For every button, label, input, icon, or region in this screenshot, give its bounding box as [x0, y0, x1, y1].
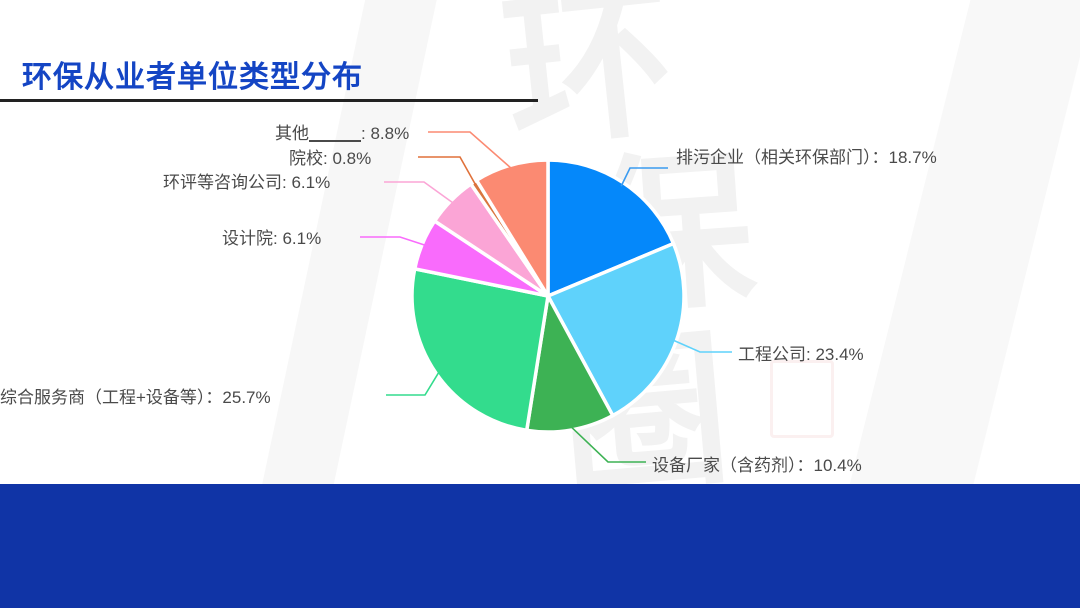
pie-slices	[412, 160, 684, 432]
pie-label-qita-blank	[309, 140, 361, 142]
pie-label-gongcheng: 工程公司: 23.4%	[738, 340, 864, 365]
pie-label-qita: 其他: 8.8%	[275, 119, 409, 144]
pie-label-zonghe: 综合服务商（工程+设备等）：25.7%	[0, 383, 271, 408]
pie-label-shebei: 设备厂家（含药剂）：10.4%	[652, 451, 862, 476]
leader-line	[384, 182, 454, 204]
leader-line	[570, 426, 646, 462]
pie-label-paiwu: 排污企业（相关环保部门）：18.7%	[676, 143, 937, 168]
slide-canvas: 环 保 圈 环保从业者单位类型分布 排污企业（相关环保部门）：18.7% 工程公…	[0, 0, 1080, 608]
footer-bar: *数据来源：「环保水圈」 *数据采集时间：2022年2月 长按二维码 查看完整版…	[0, 484, 1080, 608]
pie-label-qita-prefix: 其他	[275, 124, 309, 143]
leader-line	[621, 168, 668, 186]
leader-line	[418, 157, 476, 185]
leader-line	[673, 340, 733, 352]
pie-label-shejiyuan: 设计院: 6.1%	[222, 224, 321, 249]
leader-line	[386, 371, 440, 395]
leader-line	[360, 237, 426, 246]
pie-label-yuanxiao: 院校: 0.8%	[289, 144, 371, 169]
pie-label-qita-suffix: : 8.8%	[361, 124, 409, 143]
pie-label-zixun: 环评等咨询公司: 6.1%	[163, 168, 330, 193]
leader-line	[428, 132, 512, 169]
